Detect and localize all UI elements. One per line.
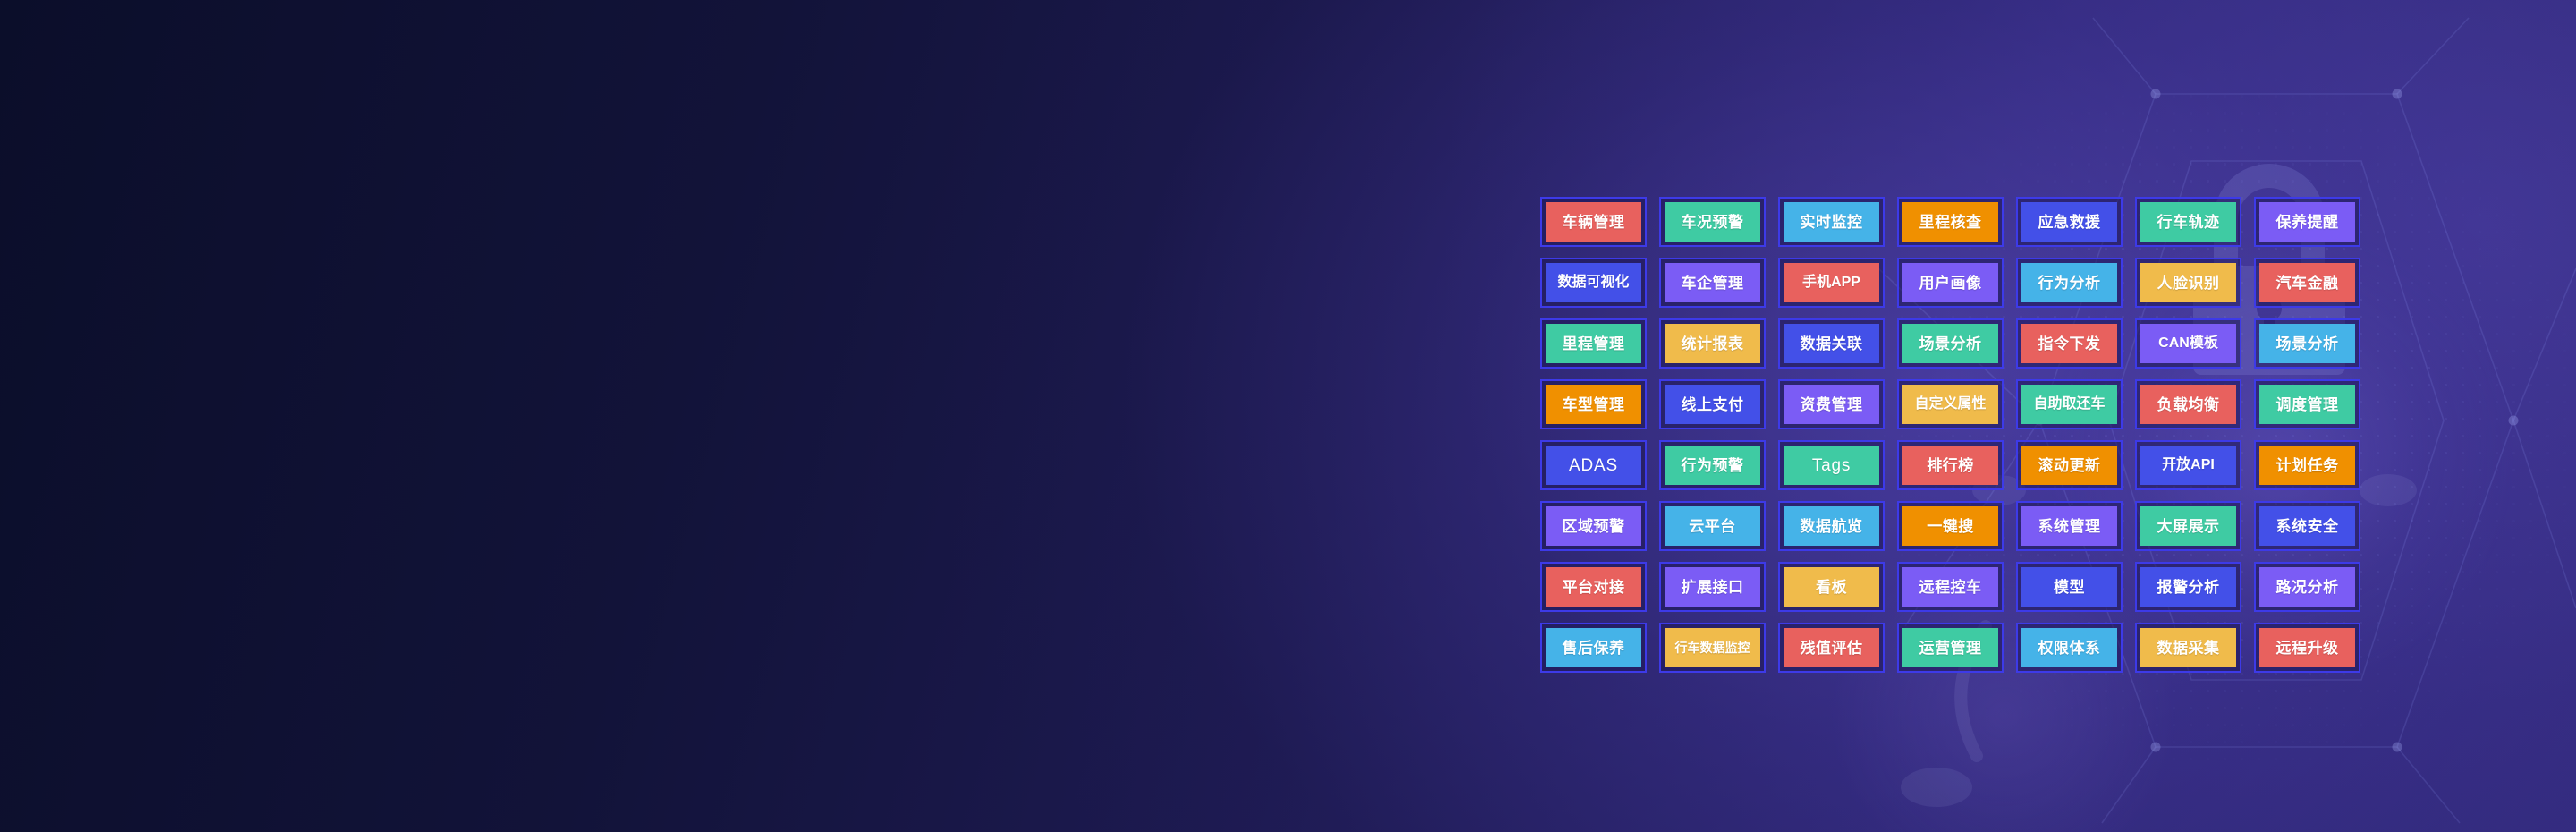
tile-frame: 汽车金融 [2254, 258, 2360, 308]
tile-button[interactable]: 大屏展示 [2140, 506, 2236, 546]
tile-cell[interactable]: 自定义属性 [1891, 374, 2010, 435]
tile-cell[interactable]: 行车数据监控 [1653, 617, 1772, 678]
tile-cell[interactable]: 保养提醒 [2248, 191, 2367, 252]
tile-cell[interactable]: 数据关联 [1772, 313, 1891, 374]
tile-frame: 用户画像 [1897, 258, 2004, 308]
tile-frame: 数据采集 [2135, 623, 2241, 673]
tile-button[interactable]: 车况预警 [1665, 202, 1760, 242]
tile-cell[interactable]: 运营管理 [1891, 617, 2010, 678]
tile-cell[interactable]: 大屏展示 [2129, 496, 2248, 556]
tile-cell[interactable]: 远程升级 [2248, 617, 2367, 678]
tile-button[interactable]: 数据关联 [1784, 324, 1879, 363]
tile-cell[interactable]: 车况预警 [1653, 191, 1772, 252]
tile-button[interactable]: 实时监控 [1784, 202, 1879, 242]
tile-frame: 指令下发 [2016, 318, 2123, 369]
tile-cell[interactable]: 资费管理 [1772, 374, 1891, 435]
tile-button[interactable]: 开放API [2140, 446, 2236, 485]
tile-button[interactable]: 行为预警 [1665, 446, 1760, 485]
tile-frame: CAN模板 [2135, 318, 2241, 369]
tile-cell[interactable]: 自助取还车 [2010, 374, 2129, 435]
tile-button[interactable]: 远程升级 [2259, 628, 2355, 667]
tile-button[interactable]: 行车数据监控 [1665, 628, 1760, 667]
tile-button[interactable]: 里程管理 [1546, 324, 1641, 363]
tile-frame: 保养提醒 [2254, 197, 2360, 247]
tile-cell[interactable]: 里程管理 [1534, 313, 1653, 374]
tile-frame: 系统管理 [2016, 501, 2123, 551]
tile-frame: 场景分析 [2254, 318, 2360, 369]
tile-button[interactable]: 手机APP [1784, 263, 1879, 302]
tile-button[interactable]: 云平台 [1665, 506, 1760, 546]
tile-button[interactable]: 人脸识别 [2140, 263, 2236, 302]
tile-button[interactable]: 自定义属性 [1902, 385, 1998, 424]
tile-frame: 大屏展示 [2135, 501, 2241, 551]
tile-button[interactable]: 路况分析 [2259, 567, 2355, 607]
tile-button[interactable]: 资费管理 [1784, 385, 1879, 424]
tile-cell[interactable]: 统计报表 [1653, 313, 1772, 374]
tile-frame: 远程升级 [2254, 623, 2360, 673]
tile-frame: 行为预警 [1659, 440, 1766, 490]
tile-cell[interactable]: 数据可视化 [1534, 252, 1653, 313]
tile-cell[interactable]: 数据采集 [2129, 617, 2248, 678]
tile-frame: Tags [1778, 440, 1885, 490]
tile-button[interactable]: 车辆管理 [1546, 202, 1641, 242]
tile-frame: 区域预警 [1540, 501, 1647, 551]
tile-cell[interactable]: 线上支付 [1653, 374, 1772, 435]
tile-button[interactable]: Tags [1784, 446, 1879, 485]
tile-cell[interactable]: Tags [1772, 435, 1891, 496]
tile-button[interactable]: 应急救援 [2021, 202, 2117, 242]
tile-frame: 数据可视化 [1540, 258, 1647, 308]
tile-button[interactable]: 模型 [2021, 567, 2117, 607]
tile-cell[interactable]: 模型 [2010, 556, 2129, 617]
tile-cell[interactable]: 售后保养 [1534, 617, 1653, 678]
tile-frame: 车况预警 [1659, 197, 1766, 247]
tile-frame: 自助取还车 [2016, 379, 2123, 429]
tile-cell[interactable]: 区域预警 [1534, 496, 1653, 556]
tile-cell[interactable]: 系统安全 [2248, 496, 2367, 556]
tile-cell[interactable]: CAN模板 [2129, 313, 2248, 374]
tile-frame: 里程管理 [1540, 318, 1647, 369]
tile-frame: 行车轨迹 [2135, 197, 2241, 247]
tile-frame: 车企管理 [1659, 258, 1766, 308]
tile-cell[interactable]: 开放API [2129, 435, 2248, 496]
tile-button[interactable]: 负载均衡 [2140, 385, 2236, 424]
tile-frame: 资费管理 [1778, 379, 1885, 429]
tile-frame: 车型管理 [1540, 379, 1647, 429]
tile-button[interactable]: 滚动更新 [2021, 446, 2117, 485]
tile-cell[interactable]: 一键搜 [1891, 496, 2010, 556]
tile-frame: 计划任务 [2254, 440, 2360, 490]
tile-button[interactable]: 场景分析 [1902, 324, 1998, 363]
tile-frame: 一键搜 [1897, 501, 2004, 551]
tile-frame: 车辆管理 [1540, 197, 1647, 247]
tile-frame: 场景分析 [1897, 318, 2004, 369]
tile-cell[interactable]: 场景分析 [1891, 313, 2010, 374]
tile-button[interactable]: 报警分析 [2140, 567, 2236, 607]
tile-button[interactable]: 行车轨迹 [2140, 202, 2236, 242]
tile-button[interactable]: 远程控车 [1902, 567, 1998, 607]
tile-frame: 开放API [2135, 440, 2241, 490]
tile-cell[interactable]: 指令下发 [2010, 313, 2129, 374]
tile-frame: 调度管理 [2254, 379, 2360, 429]
tile-cell[interactable]: 场景分析 [2248, 313, 2367, 374]
tile-cell[interactable]: 手机APP [1772, 252, 1891, 313]
tile-button[interactable]: 平台对接 [1546, 567, 1641, 607]
tile-button[interactable]: 售后保养 [1546, 628, 1641, 667]
tile-button[interactable]: 权限体系 [2021, 628, 2117, 667]
tile-frame: 看板 [1778, 562, 1885, 612]
tile-frame: 滚动更新 [2016, 440, 2123, 490]
tile-frame: 数据航览 [1778, 501, 1885, 551]
capability-tile-grid: 车辆管理车况预警实时监控里程核查应急救援行车轨迹保养提醒数据可视化车企管理手机A… [1534, 191, 2367, 678]
tile-cell[interactable]: 云平台 [1653, 496, 1772, 556]
tile-button[interactable]: 计划任务 [2259, 446, 2355, 485]
tile-button[interactable]: 场景分析 [2259, 324, 2355, 363]
tile-frame: 线上支付 [1659, 379, 1766, 429]
tile-frame: 实时监控 [1778, 197, 1885, 247]
tile-cell[interactable]: 远程控车 [1891, 556, 2010, 617]
tile-frame: 权限体系 [2016, 623, 2123, 673]
tile-cell[interactable]: 路况分析 [2248, 556, 2367, 617]
tile-cell[interactable]: 用户画像 [1891, 252, 2010, 313]
tile-button[interactable]: CAN模板 [2140, 324, 2236, 363]
tile-cell[interactable]: 残值评估 [1772, 617, 1891, 678]
tile-frame: 自定义属性 [1897, 379, 2004, 429]
tile-cell[interactable]: 里程核查 [1891, 191, 2010, 252]
tile-button[interactable]: 排行榜 [1902, 446, 1998, 485]
tile-frame: 平台对接 [1540, 562, 1647, 612]
tile-button[interactable]: 指令下发 [2021, 324, 2117, 363]
tile-frame: 运营管理 [1897, 623, 2004, 673]
tile-frame: 行为分析 [2016, 258, 2123, 308]
tile-button[interactable]: 汽车金融 [2259, 263, 2355, 302]
tile-frame: 应急救援 [2016, 197, 2123, 247]
tile-cell[interactable]: 汽车金融 [2248, 252, 2367, 313]
tile-frame: 负载均衡 [2135, 379, 2241, 429]
tile-cell[interactable]: 行车轨迹 [2129, 191, 2248, 252]
tile-frame: ADAS [1540, 440, 1647, 490]
tile-button[interactable]: 统计报表 [1665, 324, 1760, 363]
tile-button[interactable]: 保养提醒 [2259, 202, 2355, 242]
tile-button[interactable]: 数据采集 [2140, 628, 2236, 667]
page-root: 车辆管理车况预警实时监控里程核查应急救援行车轨迹保养提醒数据可视化车企管理手机A… [0, 0, 2576, 832]
tile-cell[interactable]: 车型管理 [1534, 374, 1653, 435]
tile-button[interactable]: ADAS [1546, 446, 1641, 485]
tile-button[interactable]: 数据可视化 [1546, 263, 1641, 302]
tile-frame: 模型 [2016, 562, 2123, 612]
tile-cell[interactable]: 报警分析 [2129, 556, 2248, 617]
tile-cell[interactable]: 计划任务 [2248, 435, 2367, 496]
tile-frame: 统计报表 [1659, 318, 1766, 369]
tile-button[interactable]: 看板 [1784, 567, 1879, 607]
tile-frame: 系统安全 [2254, 501, 2360, 551]
tile-button[interactable]: 系统管理 [2021, 506, 2117, 546]
tile-button[interactable]: 自助取还车 [2021, 385, 2117, 424]
tile-frame: 里程核查 [1897, 197, 2004, 247]
tile-button[interactable]: 系统安全 [2259, 506, 2355, 546]
tile-button[interactable]: 调度管理 [2259, 385, 2355, 424]
tile-frame: 报警分析 [2135, 562, 2241, 612]
tile-button[interactable]: 车企管理 [1665, 263, 1760, 302]
tile-cell[interactable]: 平台对接 [1534, 556, 1653, 617]
tile-cell[interactable]: 看板 [1772, 556, 1891, 617]
tile-cell[interactable]: 车企管理 [1653, 252, 1772, 313]
tile-frame: 残值评估 [1778, 623, 1885, 673]
tile-cell[interactable]: 人脸识别 [2129, 252, 2248, 313]
tile-frame: 云平台 [1659, 501, 1766, 551]
tile-cell[interactable]: 排行榜 [1891, 435, 2010, 496]
tile-cell[interactable]: 行为预警 [1653, 435, 1772, 496]
tile-button[interactable]: 一键搜 [1902, 506, 1998, 546]
tile-cell[interactable]: 负载均衡 [2129, 374, 2248, 435]
tile-button[interactable]: 线上支付 [1665, 385, 1760, 424]
tile-cell[interactable]: 应急救援 [2010, 191, 2129, 252]
tile-button[interactable]: 扩展接口 [1665, 567, 1760, 607]
tile-button[interactable]: 用户画像 [1902, 263, 1998, 302]
tile-button[interactable]: 运营管理 [1902, 628, 1998, 667]
tile-frame: 路况分析 [2254, 562, 2360, 612]
tile-cell[interactable]: 调度管理 [2248, 374, 2367, 435]
tile-button[interactable]: 行为分析 [2021, 263, 2117, 302]
tile-cell[interactable]: 系统管理 [2010, 496, 2129, 556]
tile-frame: 数据关联 [1778, 318, 1885, 369]
tile-cell[interactable]: 数据航览 [1772, 496, 1891, 556]
tile-cell[interactable]: 行为分析 [2010, 252, 2129, 313]
tile-cell[interactable]: 扩展接口 [1653, 556, 1772, 617]
tile-frame: 排行榜 [1897, 440, 2004, 490]
tile-frame: 人脸识别 [2135, 258, 2241, 308]
tile-frame: 行车数据监控 [1659, 623, 1766, 673]
tile-frame: 手机APP [1778, 258, 1885, 308]
tile-button[interactable]: 车型管理 [1546, 385, 1641, 424]
tile-frame: 扩展接口 [1659, 562, 1766, 612]
tile-button[interactable]: 残值评估 [1784, 628, 1879, 667]
tile-frame: 售后保养 [1540, 623, 1647, 673]
tile-button[interactable]: 区域预警 [1546, 506, 1641, 546]
tile-frame: 远程控车 [1897, 562, 2004, 612]
tile-cell[interactable]: 滚动更新 [2010, 435, 2129, 496]
tile-cell[interactable]: 车辆管理 [1534, 191, 1653, 252]
tile-button[interactable]: 数据航览 [1784, 506, 1879, 546]
tile-cell[interactable]: 权限体系 [2010, 617, 2129, 678]
tile-cell[interactable]: 实时监控 [1772, 191, 1891, 252]
tile-cell[interactable]: ADAS [1534, 435, 1653, 496]
tile-button[interactable]: 里程核查 [1902, 202, 1998, 242]
